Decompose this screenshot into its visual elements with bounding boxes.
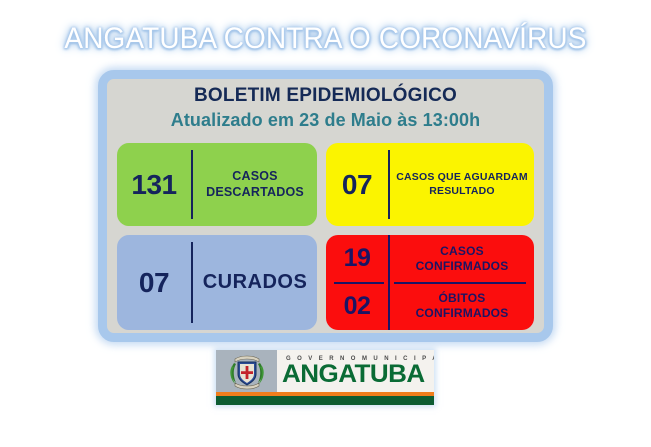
- stats-grid: 131 CASOS DESCARTADOS 07 CASOS QUE AGUAR…: [117, 143, 534, 335]
- card-horizontal-divider-left: [334, 282, 384, 284]
- stat-label-line1: CASOS: [232, 169, 277, 183]
- bulletin-heading: BOLETIM EPIDEMIOLÓGICO: [107, 85, 544, 107]
- bulletin-panel: BOLETIM EPIDEMIOLÓGICO Atualizado em 23 …: [98, 70, 553, 342]
- municipal-logo: G O V E R N O M U N I C I P A L ANGATUBA: [216, 350, 434, 405]
- stat-value-curados: 07: [117, 235, 191, 330]
- stat-card-casos-aguardando-resultado: 07 CASOS QUE AGUARDAM RESULTADO: [326, 143, 534, 226]
- stat-label-line1: ÓBITOS: [439, 291, 486, 305]
- stat-value-obitos-confirmados: 02: [326, 283, 388, 331]
- stat-label-casos-descartados: CASOS DESCARTADOS: [193, 143, 317, 226]
- logo-text-block: G O V E R N O M U N I C I P A L ANGATUBA: [277, 356, 434, 387]
- logo-wordmark: ANGATUBA: [282, 362, 434, 387]
- stat-label-line2: RESULTADO: [429, 185, 495, 197]
- card-horizontal-divider-right: [394, 282, 526, 284]
- stat-card-casos-descartados: 131 CASOS DESCARTADOS: [117, 143, 317, 226]
- stat-value-casos-confirmados: 19: [326, 235, 388, 283]
- stat-row-casos-confirmados: 19 CASOS CONFIRMADOS: [326, 235, 534, 283]
- stat-value-casos-aguardando-resultado: 07: [326, 143, 388, 226]
- coat-of-arms-icon: [216, 350, 277, 392]
- logo-stripe-orange-left: [216, 392, 277, 396]
- logo-main-row: G O V E R N O M U N I C I P A L ANGATUBA: [216, 350, 434, 392]
- stat-label-obitos-confirmados: ÓBITOS CONFIRMADOS: [390, 283, 534, 331]
- page-title: ANGATUBA CONTRA O CORONAVÍRUS: [23, 22, 628, 56]
- stat-label-line2: CONFIRMADOS: [416, 306, 509, 320]
- bulletin-update-timestamp: Atualizado em 23 de Maio às 13:00h: [107, 110, 544, 131]
- bulletin-panel-inner: BOLETIM EPIDEMIOLÓGICO Atualizado em 23 …: [107, 79, 544, 333]
- stat-label-line1: CASOS: [440, 244, 484, 258]
- stat-label-curados: CURADOS: [193, 235, 317, 330]
- stat-label-line2: CONFIRMADOS: [416, 259, 509, 273]
- stat-card-confirmados-obitos: 19 CASOS CONFIRMADOS 02 ÓBITOS: [326, 235, 534, 330]
- stat-label-line2: DESCARTADOS: [206, 185, 304, 199]
- stat-card-curados: 07 CURADOS: [117, 235, 317, 330]
- logo-stripe-green: [216, 396, 434, 405]
- stat-label-casos-aguardando-resultado: CASOS QUE AGUARDAM RESULTADO: [390, 143, 534, 226]
- stat-row-obitos-confirmados: 02 ÓBITOS CONFIRMADOS: [326, 283, 534, 331]
- stat-value-casos-descartados: 131: [117, 143, 191, 226]
- stat-label-casos-confirmados: CASOS CONFIRMADOS: [390, 235, 534, 283]
- stat-label-line1: CASOS QUE AGUARDAM: [396, 171, 528, 183]
